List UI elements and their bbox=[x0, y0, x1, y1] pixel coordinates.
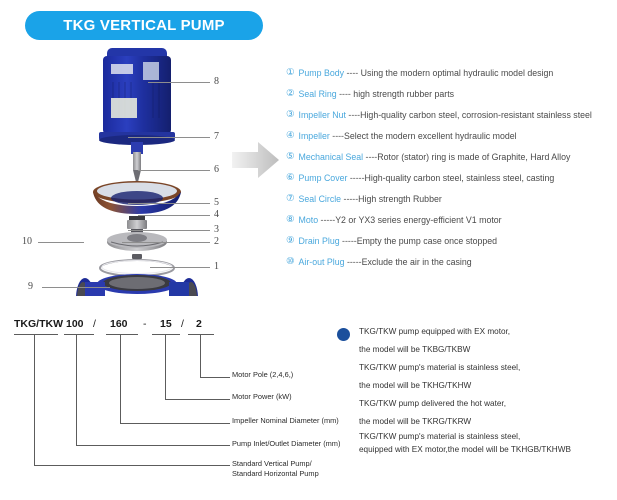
code-underline-pole bbox=[188, 334, 214, 335]
legend-number: ⑥ bbox=[286, 172, 295, 183]
legend-description: High-quality carbon steel, stainless ste… bbox=[365, 173, 555, 183]
legend-dash: ----- bbox=[341, 194, 358, 204]
note-line: the model will be TKRG/TKRW bbox=[333, 412, 617, 430]
legend-description: High-quality carbon steel, corrosion-res… bbox=[360, 110, 592, 120]
leader-vertical-inlet bbox=[76, 334, 77, 446]
legend-dash: ---- bbox=[346, 110, 360, 120]
mechanical-seal-part bbox=[127, 216, 147, 233]
page-title: TKG VERTICAL PUMP bbox=[63, 17, 224, 34]
flow-arrow-icon bbox=[232, 141, 280, 179]
note-line: TKG/TKW pump's material is stainless ste… bbox=[333, 430, 617, 442]
legend-number: ⑩ bbox=[286, 256, 295, 267]
legend-number: ⑦ bbox=[286, 193, 295, 204]
legend-item: ⑧ Moto ----- Y2 or YX3 series energy-eff… bbox=[286, 209, 617, 230]
parts-legend-list: ① Pump Body ---- Using the modern optima… bbox=[286, 62, 617, 272]
legend-number: ⑨ bbox=[286, 235, 295, 246]
pump-illustration-svg bbox=[55, 46, 220, 296]
motor-part bbox=[99, 48, 175, 145]
legend-number: ⑤ bbox=[286, 151, 295, 162]
note-line: equipped with EX motor,the model will be… bbox=[333, 442, 617, 456]
shaft-part bbox=[131, 142, 143, 182]
model-code-separator: / bbox=[181, 318, 184, 330]
legend-item: ③ Impeller Nut ---- High-quality carbon … bbox=[286, 104, 617, 125]
legend-dash: ----- bbox=[347, 173, 364, 183]
leader-vertical-series bbox=[34, 334, 35, 466]
leader-vertical-power bbox=[165, 334, 166, 400]
legend-dash: ---- bbox=[337, 89, 354, 99]
leader-horizontal-power bbox=[165, 399, 230, 400]
model-code-separator: / bbox=[93, 318, 96, 330]
legend-part-name: Seal Circle bbox=[299, 194, 342, 204]
nomenclature-label-motor-power: Motor Power (kW) bbox=[232, 392, 292, 403]
legend-part-name: Mechanical Seal bbox=[299, 152, 364, 162]
code-underline-series bbox=[14, 334, 58, 335]
bullet-icon bbox=[337, 328, 350, 341]
legend-number: ⑧ bbox=[286, 214, 295, 225]
nomenclature-label-motor-pole: Motor Pole (2,4,6,) bbox=[232, 370, 293, 381]
legend-dash: ----- bbox=[340, 236, 357, 246]
legend-part-name: Air-out Plug bbox=[299, 257, 345, 267]
legend-part-name: Drain Plug bbox=[299, 236, 340, 246]
legend-item: ⑥ Pump Cover ----- High-quality carbon s… bbox=[286, 167, 617, 188]
legend-item: ⑨ Drain Plug ----- Empty the pump case o… bbox=[286, 230, 617, 251]
nomenclature-label-impeller-dia: Impeller Nominal Diameter (mm) bbox=[232, 416, 339, 427]
legend-part-name: Impeller bbox=[299, 131, 330, 141]
callout-number-10: 10 bbox=[22, 237, 32, 247]
note-line: TKG/TKW pump equipped with EX motor, bbox=[333, 322, 617, 340]
seal-ring-part bbox=[100, 260, 174, 276]
legend-number: ④ bbox=[286, 130, 295, 141]
legend-item: ⑩ Air-out Plug ----- Exclude the air in … bbox=[286, 251, 617, 272]
callout-number-9: 9 bbox=[28, 282, 33, 292]
leader-vertical-pole bbox=[200, 334, 201, 378]
legend-description: high strength rubber parts bbox=[353, 89, 454, 99]
model-code-series: TKG/TKW bbox=[14, 318, 63, 330]
legend-description: Exclude the air in the casing bbox=[362, 257, 472, 267]
nomenclature-label-standard-vertical: Standard Vertical Pump/ bbox=[232, 459, 312, 470]
legend-part-name: Pump Body bbox=[299, 68, 344, 78]
impeller-part bbox=[107, 232, 167, 251]
note-line: the model will be TKHG/TKHW bbox=[333, 376, 617, 394]
code-underline-inlet bbox=[64, 334, 94, 335]
leader-horizontal-pole bbox=[200, 377, 230, 378]
pump-exploded-diagram bbox=[55, 46, 220, 296]
note-line: the model will be TKBG/TKBW bbox=[333, 340, 617, 358]
legend-description: Select the modern excellent hydraulic mo… bbox=[344, 131, 517, 141]
nomenclature-label-inlet-dia: Pump Inlet/Outlet Diameter (mm) bbox=[232, 439, 340, 450]
legend-dash: ----- bbox=[318, 215, 335, 225]
leader-vertical-impeller bbox=[120, 334, 121, 424]
legend-number: ③ bbox=[286, 109, 295, 120]
pump-body-part bbox=[76, 274, 198, 296]
model-variant-notes: TKG/TKW pump equipped with EX motor, the… bbox=[333, 322, 617, 456]
leader-horizontal-inlet bbox=[76, 445, 230, 446]
note-line: TKG/TKW pump delivered the hot water, bbox=[333, 394, 617, 412]
legend-part-name: Seal Ring bbox=[299, 89, 337, 99]
page-title-banner: TKG VERTICAL PUMP bbox=[25, 11, 263, 40]
model-code-power: 15 bbox=[160, 318, 172, 330]
legend-part-name: Impeller Nut bbox=[299, 110, 346, 120]
legend-dash: ---- bbox=[363, 152, 377, 162]
model-code-pole: 2 bbox=[196, 318, 202, 330]
legend-description: Y2 or YX3 series energy-efficient V1 mot… bbox=[335, 215, 501, 225]
legend-item: ① Pump Body ---- Using the modern optima… bbox=[286, 62, 617, 83]
legend-number: ② bbox=[286, 88, 295, 99]
code-underline-impeller bbox=[106, 334, 138, 335]
model-code-separator: - bbox=[143, 318, 147, 330]
legend-part-name: Moto bbox=[299, 215, 319, 225]
legend-number: ① bbox=[286, 67, 295, 78]
note-line: TKG/TKW pump's material is stainless ste… bbox=[333, 358, 617, 376]
legend-part-name: Pump Cover bbox=[299, 173, 348, 183]
legend-dash: ----- bbox=[345, 257, 362, 267]
model-code-impeller: 160 bbox=[110, 318, 128, 330]
legend-dash: ---- bbox=[330, 131, 344, 141]
nomenclature-label-standard-horizontal: Standard Horizontal Pump bbox=[232, 469, 319, 480]
legend-description: Empty the pump case once stopped bbox=[357, 236, 497, 246]
legend-item: ② Seal Ring ---- high strength rubber pa… bbox=[286, 83, 617, 104]
legend-dash: ---- bbox=[344, 68, 361, 78]
legend-item: ④ Impeller ---- Select the modern excell… bbox=[286, 125, 617, 146]
legend-item: ⑤ Mechanical Seal ---- Rotor (stator) ri… bbox=[286, 146, 617, 167]
legend-description: Using the modern optimal hydraulic model… bbox=[361, 68, 554, 78]
pump-cover-part bbox=[93, 181, 181, 214]
impeller-nut-part bbox=[132, 254, 142, 259]
legend-description: Rotor (stator) ring is made of Graphite,… bbox=[377, 152, 570, 162]
legend-item: ⑦ Seal Circle ----- High strength Rubber bbox=[286, 188, 617, 209]
legend-description: High strength Rubber bbox=[358, 194, 442, 204]
leader-horizontal-series bbox=[34, 465, 230, 466]
code-underline-power bbox=[152, 334, 180, 335]
model-code-inlet: 100 bbox=[66, 318, 84, 330]
leader-horizontal-impeller bbox=[120, 423, 230, 424]
